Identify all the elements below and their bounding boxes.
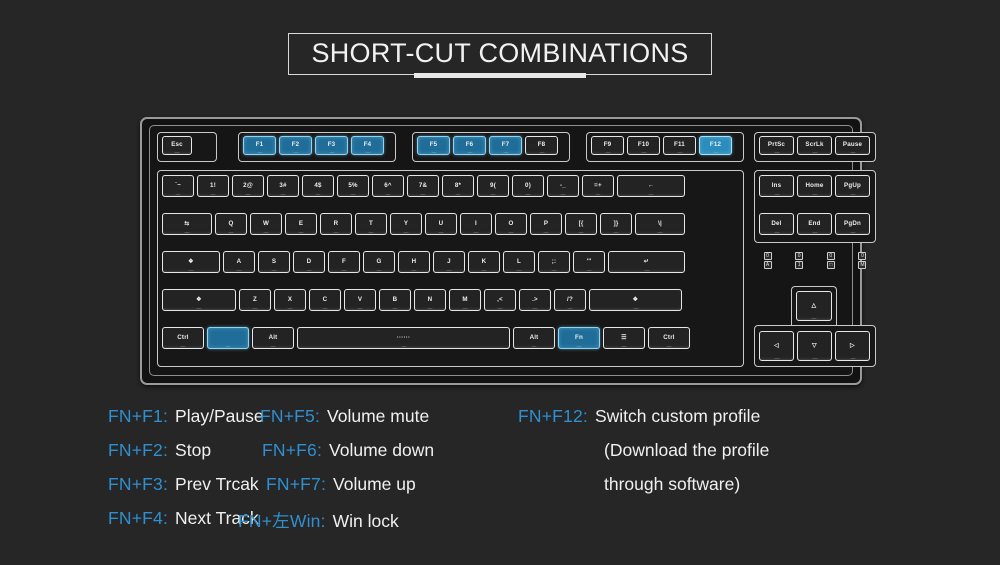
key-w[interactable]: W [250,213,282,235]
legend-item: FN+F6: Volume down [262,440,518,461]
key-c[interactable]: C [309,289,341,311]
legend-item: FN+F12: Switch custom profile [518,406,858,427]
key-v[interactable]: V [344,289,376,311]
key-arrow-left[interactable]: ◁ [759,331,794,361]
key-f8[interactable]: F8 [525,136,558,155]
key-f10[interactable]: F10 [627,136,660,155]
key-f9[interactable]: F9 [591,136,624,155]
led-top-glyph: 0 [795,252,803,260]
nav-row-1: Ins Home PgUp [759,175,870,197]
main-key-block: `~ 1! 2@ 3# 4$ 5% 6^ 7& 8* 9( 0) -_ =+ ← [157,170,744,367]
f5-f8-block: F5 F6 F7 F8 [412,132,570,162]
legend-item: FN+F7: Volume up [266,474,518,495]
legend-column-1: FN+F1: Play/Pause FN+F2: Stop FN+F3: Pre… [0,406,260,546]
key-f2[interactable]: F2 [279,136,312,155]
key-5[interactable]: 5% [337,175,369,197]
esc-row: Esc [162,136,192,155]
key-arrow-right[interactable]: ▷ [835,331,870,361]
key-0[interactable]: 0) [512,175,544,197]
page-title-block: SHORT-CUT COMBINATIONS [0,33,1000,78]
key-2[interactable]: 2@ [232,175,264,197]
led-indicator: 0 1 [794,252,805,269]
key-fn[interactable]: Fn [558,327,600,349]
key-ctrl-right[interactable]: Ctrl [648,327,690,349]
key-h[interactable]: H [398,251,430,273]
legend-continuation: through software) [518,474,858,495]
key-scrlk[interactable]: ScrLk [797,136,832,155]
legend-column-2: FN+F5: Volume mute FN+F6: Volume down FN… [260,406,518,546]
key-f1[interactable]: F1 [243,136,276,155]
key-bracket-right[interactable]: ]} [600,213,632,235]
shift-row: ❖ Z X C V B N M ,< .> /? ❖ [162,289,682,311]
screenshot-root: SHORT-CUT COMBINATIONS Esc F1 F2 F3 F4 [0,0,1000,565]
key-arrow-up[interactable]: △ [796,291,832,321]
key-bracket-left[interactable]: [{ [565,213,597,235]
key-8[interactable]: 8* [442,175,474,197]
led-indicator: 0 □ [825,252,836,269]
key-backspace[interactable]: ← [617,175,685,197]
led-indicator: 0 A [762,252,773,269]
key-alt-left[interactable]: Alt [252,327,294,349]
legend-combo: FN+F3: [108,474,168,495]
key-delete[interactable]: Del [759,213,794,235]
legend-combo: FN+左Win: [238,508,326,533]
key-q[interactable]: Q [215,213,247,235]
f9-f12-row: F9 F10 F11 F12 [591,136,732,155]
key-d[interactable]: D [293,251,325,273]
legend-desc: Switch custom profile [595,406,760,427]
page-title: SHORT-CUT COMBINATIONS [311,40,688,67]
page-title-box: SHORT-CUT COMBINATIONS [288,33,711,75]
key-1[interactable]: 1! [197,175,229,197]
key-f12[interactable]: F12 [699,136,732,155]
legend-combo: FN+F5: [260,406,320,427]
key-enter[interactable]: ↵ [608,251,685,273]
legend-item: FN+F1: Play/Pause [108,406,260,427]
key-p[interactable]: P [530,213,562,235]
led-top-glyph: 0 [764,252,772,260]
key-t[interactable]: T [355,213,387,235]
key-tab[interactable]: ⇆ [162,213,212,235]
key-7[interactable]: 7& [407,175,439,197]
key-shift-left[interactable]: ❖ [162,289,236,311]
key-a[interactable]: A [223,251,255,273]
key-prtsc[interactable]: PrtSc [759,136,794,155]
legend-continuation: (Download the profile [518,440,858,461]
key-menu[interactable]: ☰ [603,327,645,349]
nav-row-2: Del End PgDn [759,213,870,235]
f1-f4-block: F1 F2 F3 F4 [238,132,396,162]
key-arrow-down[interactable]: ▽ [797,331,832,361]
keyboard-plate: Esc F1 F2 F3 F4 F5 F6 F7 F8 [149,125,853,376]
key-backtick[interactable]: `~ [162,175,194,197]
key-f7[interactable]: F7 [489,136,522,155]
number-row: `~ 1! 2@ 3# 4$ 5% 6^ 7& 8* 9( 0) -_ =+ ← [162,175,685,197]
shortcut-legend: FN+F1: Play/Pause FN+F2: Stop FN+F3: Pre… [0,406,1000,546]
key-space[interactable]: ······ [297,327,510,349]
key-backslash[interactable]: \| [635,213,685,235]
key-4[interactable]: 4$ [302,175,334,197]
key-n[interactable]: N [414,289,446,311]
sysctl-row: PrtSc ScrLk Pause [759,136,870,155]
led-indicator-group: 0 A 0 1 0 □ 0 M [762,252,868,269]
legend-desc: Volume mute [327,406,429,427]
scrolllock-led-icon: □ [827,261,835,269]
key-o[interactable]: O [495,213,527,235]
led-top-glyph: 0 [858,252,866,260]
legend-columns: FN+F1: Play/Pause FN+F2: Stop FN+F3: Pre… [0,406,1000,546]
key-g[interactable]: G [363,251,395,273]
led-indicator: 0 M [857,252,868,269]
legend-combo: FN+F7: [266,474,326,495]
key-f[interactable]: F [328,251,360,273]
key-equals[interactable]: =+ [582,175,614,197]
f9-f12-block: F9 F10 F11 F12 [586,132,744,162]
keyboard-diagram: Esc F1 F2 F3 F4 F5 F6 F7 F8 [140,117,862,385]
key-x[interactable]: X [274,289,306,311]
sysctl-block: PrtSc ScrLk Pause [754,132,876,162]
numlock-led-icon: 1 [795,261,803,269]
key-j[interactable]: J [433,251,465,273]
key-e[interactable]: E [285,213,317,235]
key-f11[interactable]: F11 [663,136,696,155]
key-alt-right[interactable]: Alt [513,327,555,349]
legend-desc: Prev Trcak [175,474,259,495]
key-capslock[interactable]: ❖ [162,251,220,273]
key-shift-right[interactable]: ❖ [589,289,682,311]
key-k[interactable]: K [468,251,500,273]
key-6[interactable]: 6^ [372,175,404,197]
key-pagedown[interactable]: PgDn [835,213,870,235]
bottom-row: Ctrl Alt ······ Alt Fn ☰ Ctrl [162,327,690,349]
key-slash[interactable]: /? [554,289,586,311]
arrow-up-row: △ [796,291,832,321]
legend-column-3: FN+F12: Switch custom profile (Download … [518,406,858,546]
legend-combo: FN+F6: [262,440,322,461]
key-period[interactable]: .> [519,289,551,311]
key-i[interactable]: I [460,213,492,235]
legend-combo: FN+F4: [108,508,168,529]
arrow-bottom-row: ◁ ▽ ▷ [759,331,870,361]
legend-item: FN+F3: Prev Trcak [108,474,260,495]
legend-desc: Play/Pause [175,406,264,427]
nav-cluster-block: Ins Home PgUp Del End PgDn [754,170,876,243]
key-f6[interactable]: F6 [453,136,486,155]
key-end[interactable]: End [797,213,832,235]
key-y[interactable]: Y [390,213,422,235]
f1-f4-row: F1 F2 F3 F4 [243,136,384,155]
legend-desc: Volume down [329,440,434,461]
legend-combo: FN+F1: [108,406,168,427]
led-top-glyph: 0 [827,252,835,260]
legend-item: FN+F2: Stop [108,440,260,461]
legend-desc: Volume up [333,474,416,495]
tab-row: ⇆ Q W E R T Y U I O P [{ ]} \| [162,213,685,235]
winlock-led-icon: M [858,261,866,269]
legend-desc: Win lock [333,511,399,532]
key-home[interactable]: Home [797,175,832,197]
key-u[interactable]: U [425,213,457,235]
key-esc[interactable]: Esc [162,136,192,155]
key-pause[interactable]: Pause [835,136,870,155]
arrow-up-block: △ [791,286,837,326]
key-semicolon[interactable]: ;: [538,251,570,273]
key-ctrl-left[interactable]: Ctrl [162,327,204,349]
esc-block: Esc [157,132,217,162]
key-r[interactable]: R [320,213,352,235]
key-win-left[interactable] [207,327,249,349]
capslock-led-icon: A [764,261,772,269]
caps-row: ❖ A S D F G H J K L ;: '" ↵ [162,251,685,273]
legend-item: FN+左Win: Win lock [238,508,518,533]
f5-f8-row: F5 F6 F7 F8 [417,136,558,155]
key-b[interactable]: B [379,289,411,311]
arrow-bottom-block: ◁ ▽ ▷ [754,325,876,367]
key-comma[interactable]: ,< [484,289,516,311]
key-f5[interactable]: F5 [417,136,450,155]
legend-item: FN+F5: Volume mute [260,406,518,427]
key-s[interactable]: S [258,251,290,273]
key-insert[interactable]: Ins [759,175,794,197]
key-pageup[interactable]: PgUp [835,175,870,197]
key-9[interactable]: 9( [477,175,509,197]
key-z[interactable]: Z [239,289,271,311]
legend-desc: Stop [175,440,211,461]
key-f4[interactable]: F4 [351,136,384,155]
legend-combo: FN+F2: [108,440,168,461]
key-l[interactable]: L [503,251,535,273]
key-3[interactable]: 3# [267,175,299,197]
key-minus[interactable]: -_ [547,175,579,197]
title-underline [414,73,586,78]
legend-combo: FN+F12: [518,406,588,427]
key-quote[interactable]: '" [573,251,605,273]
key-f3[interactable]: F3 [315,136,348,155]
key-m[interactable]: M [449,289,481,311]
